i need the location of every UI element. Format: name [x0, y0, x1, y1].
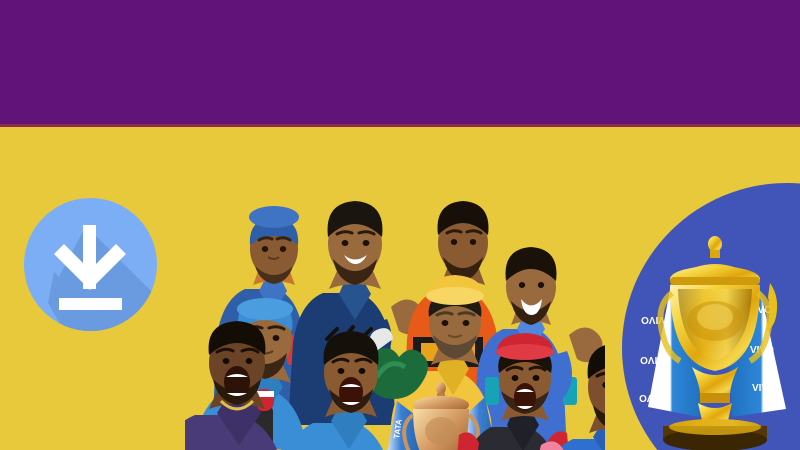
download-badge-label: Download: [0, 127, 1, 128]
ipl-schedule-banner: IPL 2023 Schedule- All Teams With TimeTa…: [0, 0, 800, 450]
players-montage: Myntra: [185, 139, 605, 450]
svg-text:VIVO: VIVO: [752, 383, 776, 394]
center-trophy-label: TATA IPL Trophy: [0, 127, 1, 128]
trophy-panel-label: IPL Trophy: [0, 127, 1, 128]
svg-text:VIVO: VIVO: [640, 354, 664, 365]
header-bar: [0, 0, 800, 124]
ipl-trophy: VIVO VIVO VIVO VIVO VIVO VIVO: [620, 217, 800, 450]
svg-text:VIVO: VIVO: [639, 392, 663, 403]
content-stage: VIVO VIVO VIVO VIVO VIVO VIVO: [0, 127, 800, 450]
download-arrow-glyph: [24, 198, 157, 331]
players-montage-label: IPL Team Players Montage: [0, 127, 1, 128]
download-icon[interactable]: [24, 198, 157, 331]
header-divider: [0, 124, 800, 127]
